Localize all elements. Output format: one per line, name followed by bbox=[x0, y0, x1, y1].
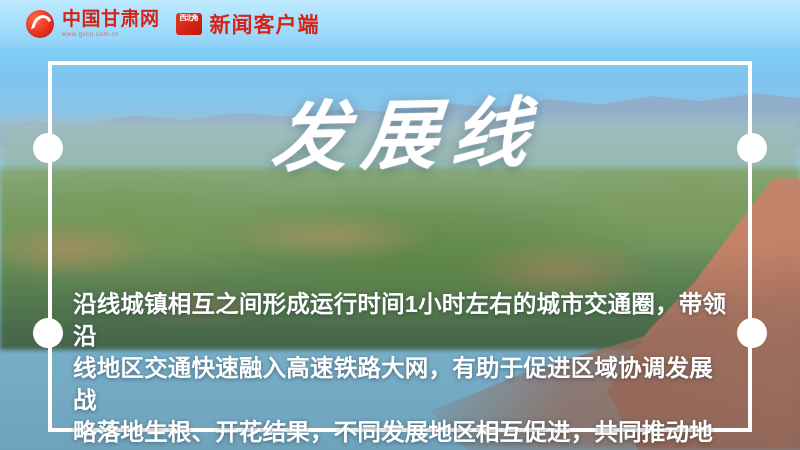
frame-node-bottom-left bbox=[33, 318, 63, 348]
body-line: 沿线城镇相互之间形成运行时间1小时左右的城市交通圈，带领沿 bbox=[73, 288, 733, 352]
gansu-net-logo-icon bbox=[26, 10, 54, 38]
primary-logo-url: www.gscn.com.cn bbox=[62, 32, 160, 38]
secondary-logo[interactable]: 西北角 新闻客户端 bbox=[176, 9, 320, 39]
primary-logo-name: 中国甘肃网 bbox=[62, 10, 160, 29]
secondary-logo-name: 新闻客户端 bbox=[210, 9, 320, 39]
primary-logo-text: 中国甘肃网 www.gscn.com.cn bbox=[62, 10, 160, 38]
header-bar: 中国甘肃网 www.gscn.com.cn 西北角 新闻客户端 bbox=[0, 0, 800, 47]
xibeijiao-seal-icon: 西北角 bbox=[176, 13, 202, 35]
frame-node-bottom-right bbox=[737, 318, 767, 348]
body-copy: 沿线城镇相互之间形成运行时间1小时左右的城市交通圈，带领沿 线地区交通快速融入高… bbox=[73, 288, 733, 450]
poster-canvas: 中国甘肃网 www.gscn.com.cn 西北角 新闻客户端 发展线 沿线城镇… bbox=[0, 0, 800, 450]
body-line: 略落地生根、开花结果，不同发展地区相互促进，共同推动地方经 bbox=[73, 416, 733, 450]
primary-logo[interactable]: 中国甘肃网 www.gscn.com.cn bbox=[26, 10, 160, 38]
body-line: 线地区交通快速融入高速铁路大网，有助于促进区域协调发展战 bbox=[73, 352, 733, 416]
